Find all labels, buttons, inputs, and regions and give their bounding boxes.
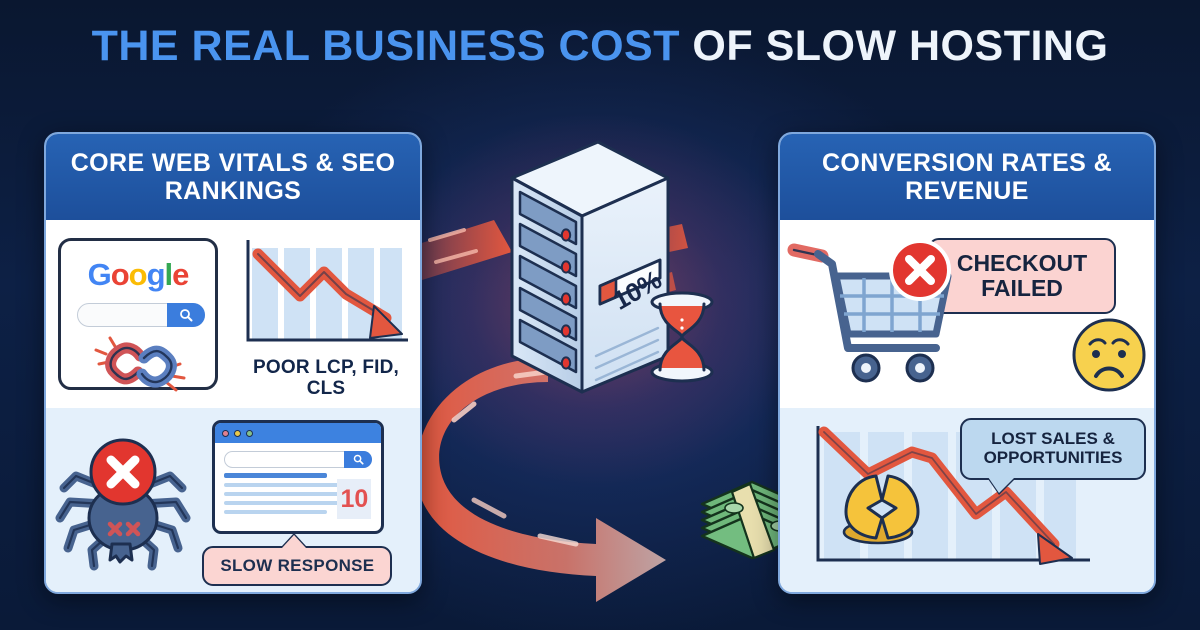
left-panel: CORE WEB VITALS & SEO RANKINGS Google [44, 132, 422, 594]
page-title: THE REAL BUSINESS COST OF SLOW HOSTING [0, 22, 1200, 71]
google-search-card-wrap: Google [46, 220, 232, 408]
browser-dot-red [222, 430, 229, 437]
center-illustration [420, 120, 780, 620]
search-icon[interactable] [344, 451, 372, 468]
browser-dot-yellow [234, 430, 241, 437]
dead-crawler-spider-icon [54, 426, 192, 576]
browser-window-mock[interactable]: 10 [212, 420, 384, 534]
left-panel-top-row: Google [46, 220, 420, 408]
checkout-failed-row: CHECKOUT FAILED [780, 220, 1154, 408]
right-panel-body: CHECKOUT FAILED [780, 220, 1154, 594]
title-segment-accent: THE REAL BUSINESS COST [92, 22, 693, 70]
result-line [224, 510, 327, 514]
search-input[interactable] [77, 303, 205, 327]
result-line [224, 501, 353, 505]
left-panel-header: CORE WEB VITALS & SEO RANKINGS [46, 134, 420, 220]
infographic-canvas: THE REAL BUSINESS COST OF SLOW HOSTING [0, 0, 1200, 630]
lost-sales-row: LOST SALES & OPPORTUNITIES [780, 408, 1154, 594]
crawler-spider-wrap [46, 408, 194, 594]
left-panel-body: Google [46, 220, 420, 594]
result-line [224, 492, 347, 496]
browser-dot-green [246, 430, 253, 437]
slow-response-callout: SLOW RESPONSE [202, 546, 392, 586]
browser-search-input[interactable] [224, 451, 372, 468]
left-panel-bottom-row: 10 SLOW RESPONSE [46, 408, 420, 594]
slow-response-wrap: 10 SLOW RESPONSE [194, 408, 420, 594]
browser-titlebar [215, 423, 381, 443]
shopping-cart-icon [788, 234, 968, 394]
title-segment-white: OF SLOW HOSTING [692, 22, 1108, 70]
center-svg [420, 120, 780, 620]
result-rank-badge: 10 [337, 479, 371, 519]
lost-sales-bubble: LOST SALES & OPPORTUNITIES [960, 418, 1146, 480]
result-line [224, 473, 327, 478]
sad-face-emoji [1070, 316, 1148, 394]
google-logo: Google [61, 257, 215, 293]
right-panel: CONVERSION RATES & REVENUE CHECKOUT FAIL… [778, 132, 1156, 594]
red-flow-arrow-curve [416, 358, 666, 602]
declining-arrow-chart [236, 234, 414, 354]
poor-vitals-chart-wrap: POOR LCP, FID, CLS [232, 220, 420, 408]
search-icon[interactable] [167, 303, 205, 327]
broken-link-icon [92, 332, 192, 400]
right-panel-header: CONVERSION RATES & REVENUE [780, 134, 1154, 220]
poor-vitals-caption: POOR LCP, FID, CLS [232, 358, 420, 399]
